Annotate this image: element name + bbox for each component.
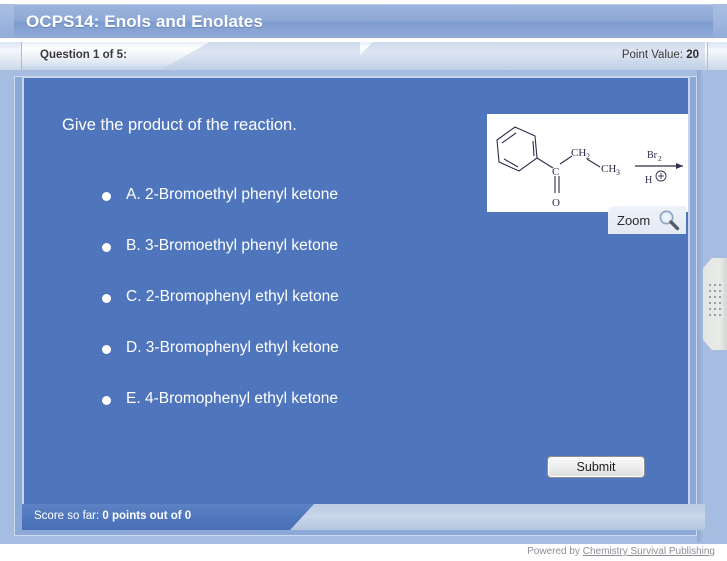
arrow-head xyxy=(676,163,683,169)
answer-option-label: C. 2-Bromophenyl ethyl ketone xyxy=(126,288,339,306)
powered-by-label: Powered by xyxy=(527,546,580,557)
answer-option-c[interactable]: C. 2-Bromophenyl ethyl ketone xyxy=(102,288,522,339)
score-value: 0 points out of 0 xyxy=(102,510,191,522)
question-bar-right-cap xyxy=(707,42,727,70)
point-value-label: Point Value: xyxy=(622,49,683,61)
page-footer: Powered by Chemistry Survival Publishing xyxy=(0,542,727,561)
reaction-structure-image: C CH 2 CH 3 O Br 2 H xyxy=(487,114,689,212)
radio-bullet-icon[interactable] xyxy=(102,294,111,303)
quiz-application: OCPS14: Enols and Enolates Question 1 of… xyxy=(0,0,727,561)
question-bar-slab-1 xyxy=(160,42,360,70)
titlebar-right-cap xyxy=(713,4,727,38)
submit-button[interactable]: Submit xyxy=(547,456,645,478)
answer-option-e[interactable]: E. 4-Bromophenyl ethyl ketone xyxy=(102,390,522,441)
answer-option-label: A. 2-Bromoethyl phenyl ketone xyxy=(126,186,338,204)
question-panel: Give the product of the reaction. A. 2-B… xyxy=(22,76,690,528)
ch3-label: CH xyxy=(601,163,616,175)
radio-bullet-icon[interactable] xyxy=(102,345,111,354)
ch2-label: CH xyxy=(571,147,586,159)
point-value-number: 20 xyxy=(686,49,699,61)
title-bar: OCPS14: Enols and Enolates xyxy=(14,4,713,38)
magnifier-icon xyxy=(658,209,680,231)
ch2-subscript: 2 xyxy=(586,152,590,161)
answer-option-label: E. 4-Bromophenyl ethyl ketone xyxy=(126,390,338,408)
answer-options-list: A. 2-Bromoethyl phenyl ketone B. 3-Bromo… xyxy=(102,186,522,441)
reagent-br2-subscript: 2 xyxy=(658,154,662,163)
question-prompt: Give the product of the reaction. xyxy=(62,116,297,135)
titlebar-left-cap xyxy=(0,4,14,38)
answer-option-a[interactable]: A. 2-Bromoethyl phenyl ketone xyxy=(102,186,522,237)
reaction-scheme-svg: C CH 2 CH 3 O Br 2 H xyxy=(487,114,689,212)
radio-bullet-icon[interactable] xyxy=(102,192,111,201)
answer-option-d[interactable]: D. 3-Bromophenyl ethyl ketone xyxy=(102,339,522,390)
page-title: OCPS14: Enols and Enolates xyxy=(26,12,263,32)
question-status-bar: Question 1 of 5: Point Value: 20 xyxy=(0,42,727,71)
question-bar-left-cap xyxy=(0,42,22,70)
radio-bullet-icon[interactable] xyxy=(102,396,111,405)
splitter-rail xyxy=(697,70,703,542)
submit-button-label: Submit xyxy=(577,460,616,474)
zoom-button-label: Zoom xyxy=(617,213,650,228)
question-counter: Question 1 of 5: xyxy=(40,49,127,61)
answer-option-label: B. 3-Bromoethyl phenyl ketone xyxy=(126,237,338,255)
splitter-grip-dots xyxy=(709,284,722,324)
reagent-h-label: H xyxy=(645,175,652,186)
ch3-subscript: 3 xyxy=(616,168,620,177)
point-value: Point Value: 20 xyxy=(622,49,699,61)
score-bar: Score so far: 0 points out of 0 xyxy=(22,504,705,530)
answer-option-b[interactable]: B. 3-Bromoethyl phenyl ketone xyxy=(102,237,522,288)
answer-option-label: D. 3-Bromophenyl ethyl ketone xyxy=(126,339,339,357)
radio-bullet-icon[interactable] xyxy=(102,243,111,252)
reagent-br2-label: Br xyxy=(647,150,658,161)
oxygen-label: O xyxy=(552,197,560,209)
footer-credit: Powered by Chemistry Survival Publishing xyxy=(527,546,715,557)
carbonyl-carbon-label: C xyxy=(552,166,559,178)
footer-divider xyxy=(0,542,727,544)
score-text: Score so far: 0 points out of 0 xyxy=(34,510,191,522)
publisher-link[interactable]: Chemistry Survival Publishing xyxy=(583,546,715,557)
score-prefix: Score so far: xyxy=(34,510,99,522)
zoom-button[interactable]: Zoom xyxy=(608,206,686,234)
